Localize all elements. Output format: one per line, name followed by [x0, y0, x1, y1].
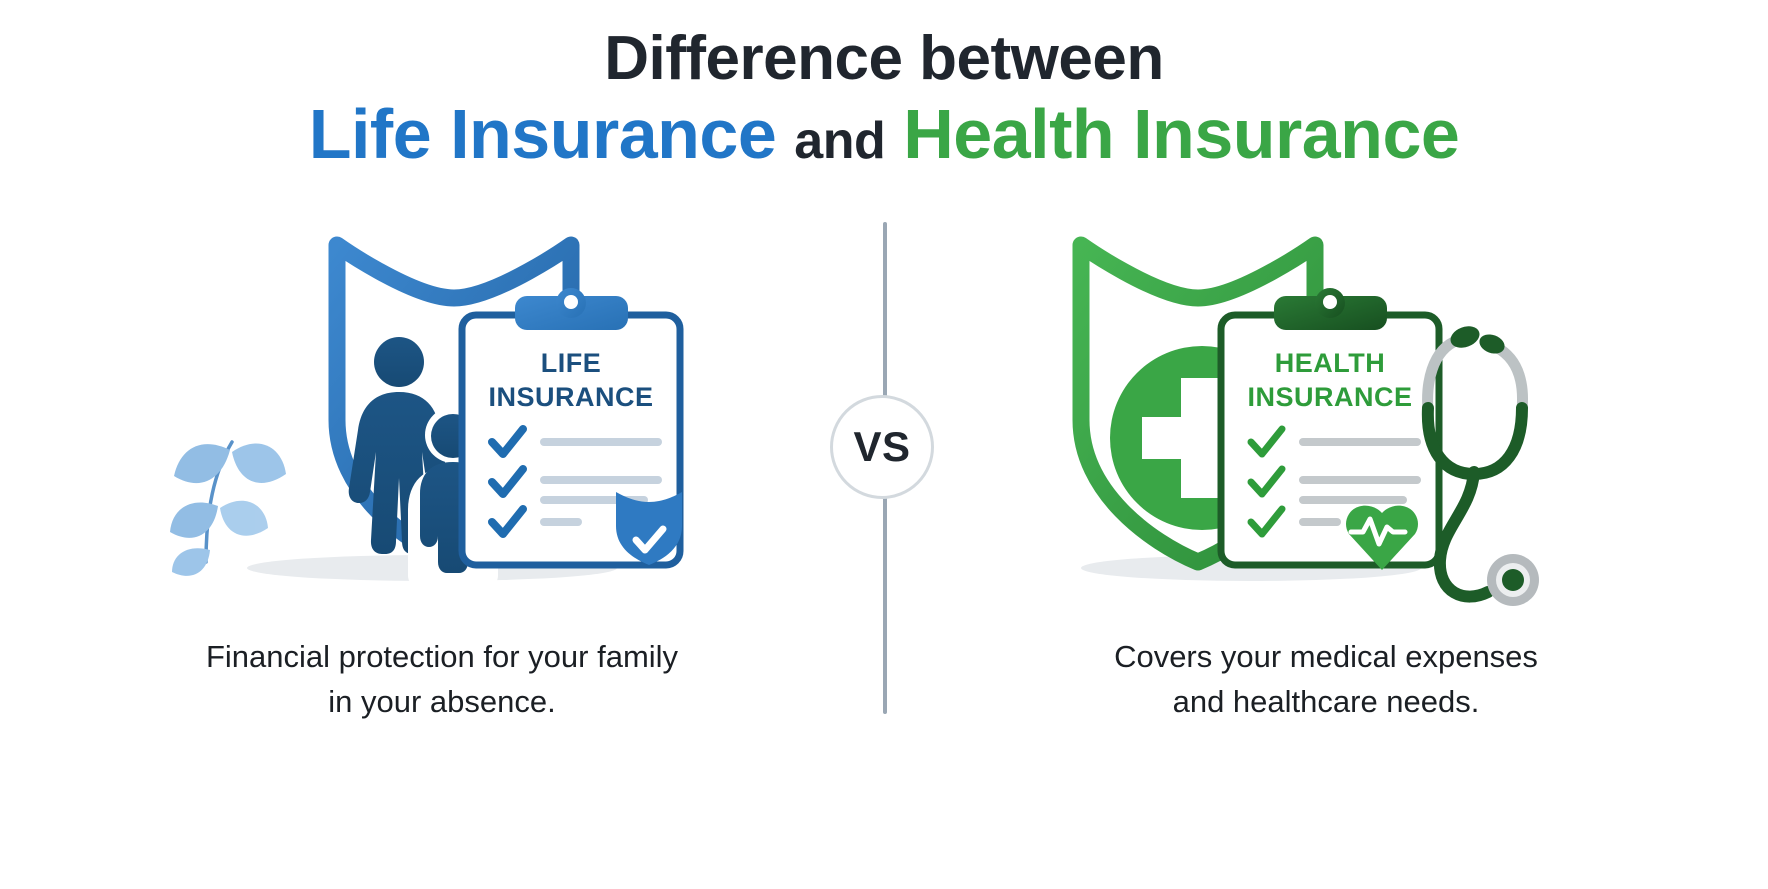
health-art-svg: HEALTH INSURANCE: [1026, 210, 1626, 630]
panel-health-insurance: HEALTH INSURANCE: [884, 210, 1768, 770]
clipboard-title-line1: HEALTH: [1275, 348, 1386, 378]
page-title: Difference between Life InsuranceandHeal…: [0, 24, 1768, 176]
clipboard-title-line2: INSURANCE: [488, 382, 653, 412]
leaf-branch-icon: [170, 442, 286, 576]
health-insurance-illustration: HEALTH INSURANCE: [884, 210, 1768, 630]
infographic-page: Difference between Life InsuranceandHeal…: [0, 0, 1768, 889]
stethoscope-icon: [1428, 322, 1539, 606]
clipboard-title-line1: LIFE: [541, 348, 602, 378]
caption-line-1: Financial protection for your family: [0, 635, 884, 680]
title-line-2: Life InsuranceandHealth Insurance: [0, 93, 1768, 176]
caption-line-1: Covers your medical expenses: [884, 635, 1768, 680]
caption-line-2: and healthcare needs.: [884, 680, 1768, 725]
title-term-life: Life Insurance: [309, 95, 777, 173]
title-term-health: Health Insurance: [903, 95, 1459, 173]
life-insurance-illustration: LIFE INSURANCE: [0, 210, 884, 630]
life-insurance-caption: Financial protection for your family in …: [0, 635, 884, 725]
caption-line-2: in your absence.: [0, 680, 884, 725]
health-insurance-caption: Covers your medical expenses and healthc…: [884, 635, 1768, 725]
life-art-svg: LIFE INSURANCE: [162, 210, 722, 630]
panel-life-insurance: LIFE INSURANCE: [0, 210, 884, 770]
vs-badge: VS: [830, 395, 934, 499]
title-line-1: Difference between: [0, 24, 1768, 93]
clipboard-icon: LIFE INSURANCE: [462, 288, 682, 565]
clipboard-title-line2: INSURANCE: [1247, 382, 1412, 412]
title-conjunction: and: [776, 112, 903, 170]
clipboard-icon: HEALTH INSURANCE: [1221, 288, 1439, 570]
